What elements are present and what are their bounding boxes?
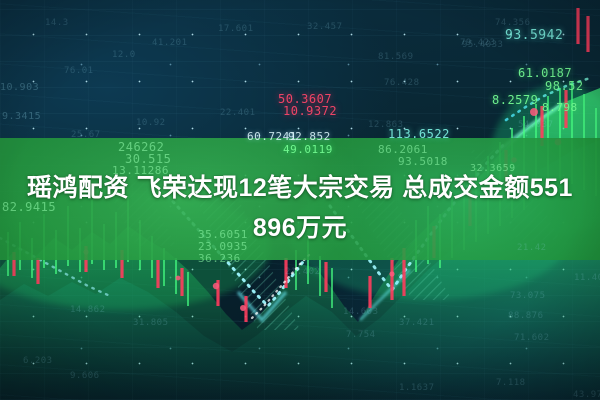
headline-line-1: 瑶鸿配资 飞荣达现12笔大宗交易 总成交金额551 [27, 174, 573, 202]
headline-line-2: 896万元 [0, 208, 600, 248]
headline: 瑶鸿配资 飞荣达现12笔大宗交易 总成交金额551 896万元 [0, 168, 600, 248]
stock-news-banner: 93.594261.018798.528.25798.79850.360710.… [0, 0, 600, 400]
